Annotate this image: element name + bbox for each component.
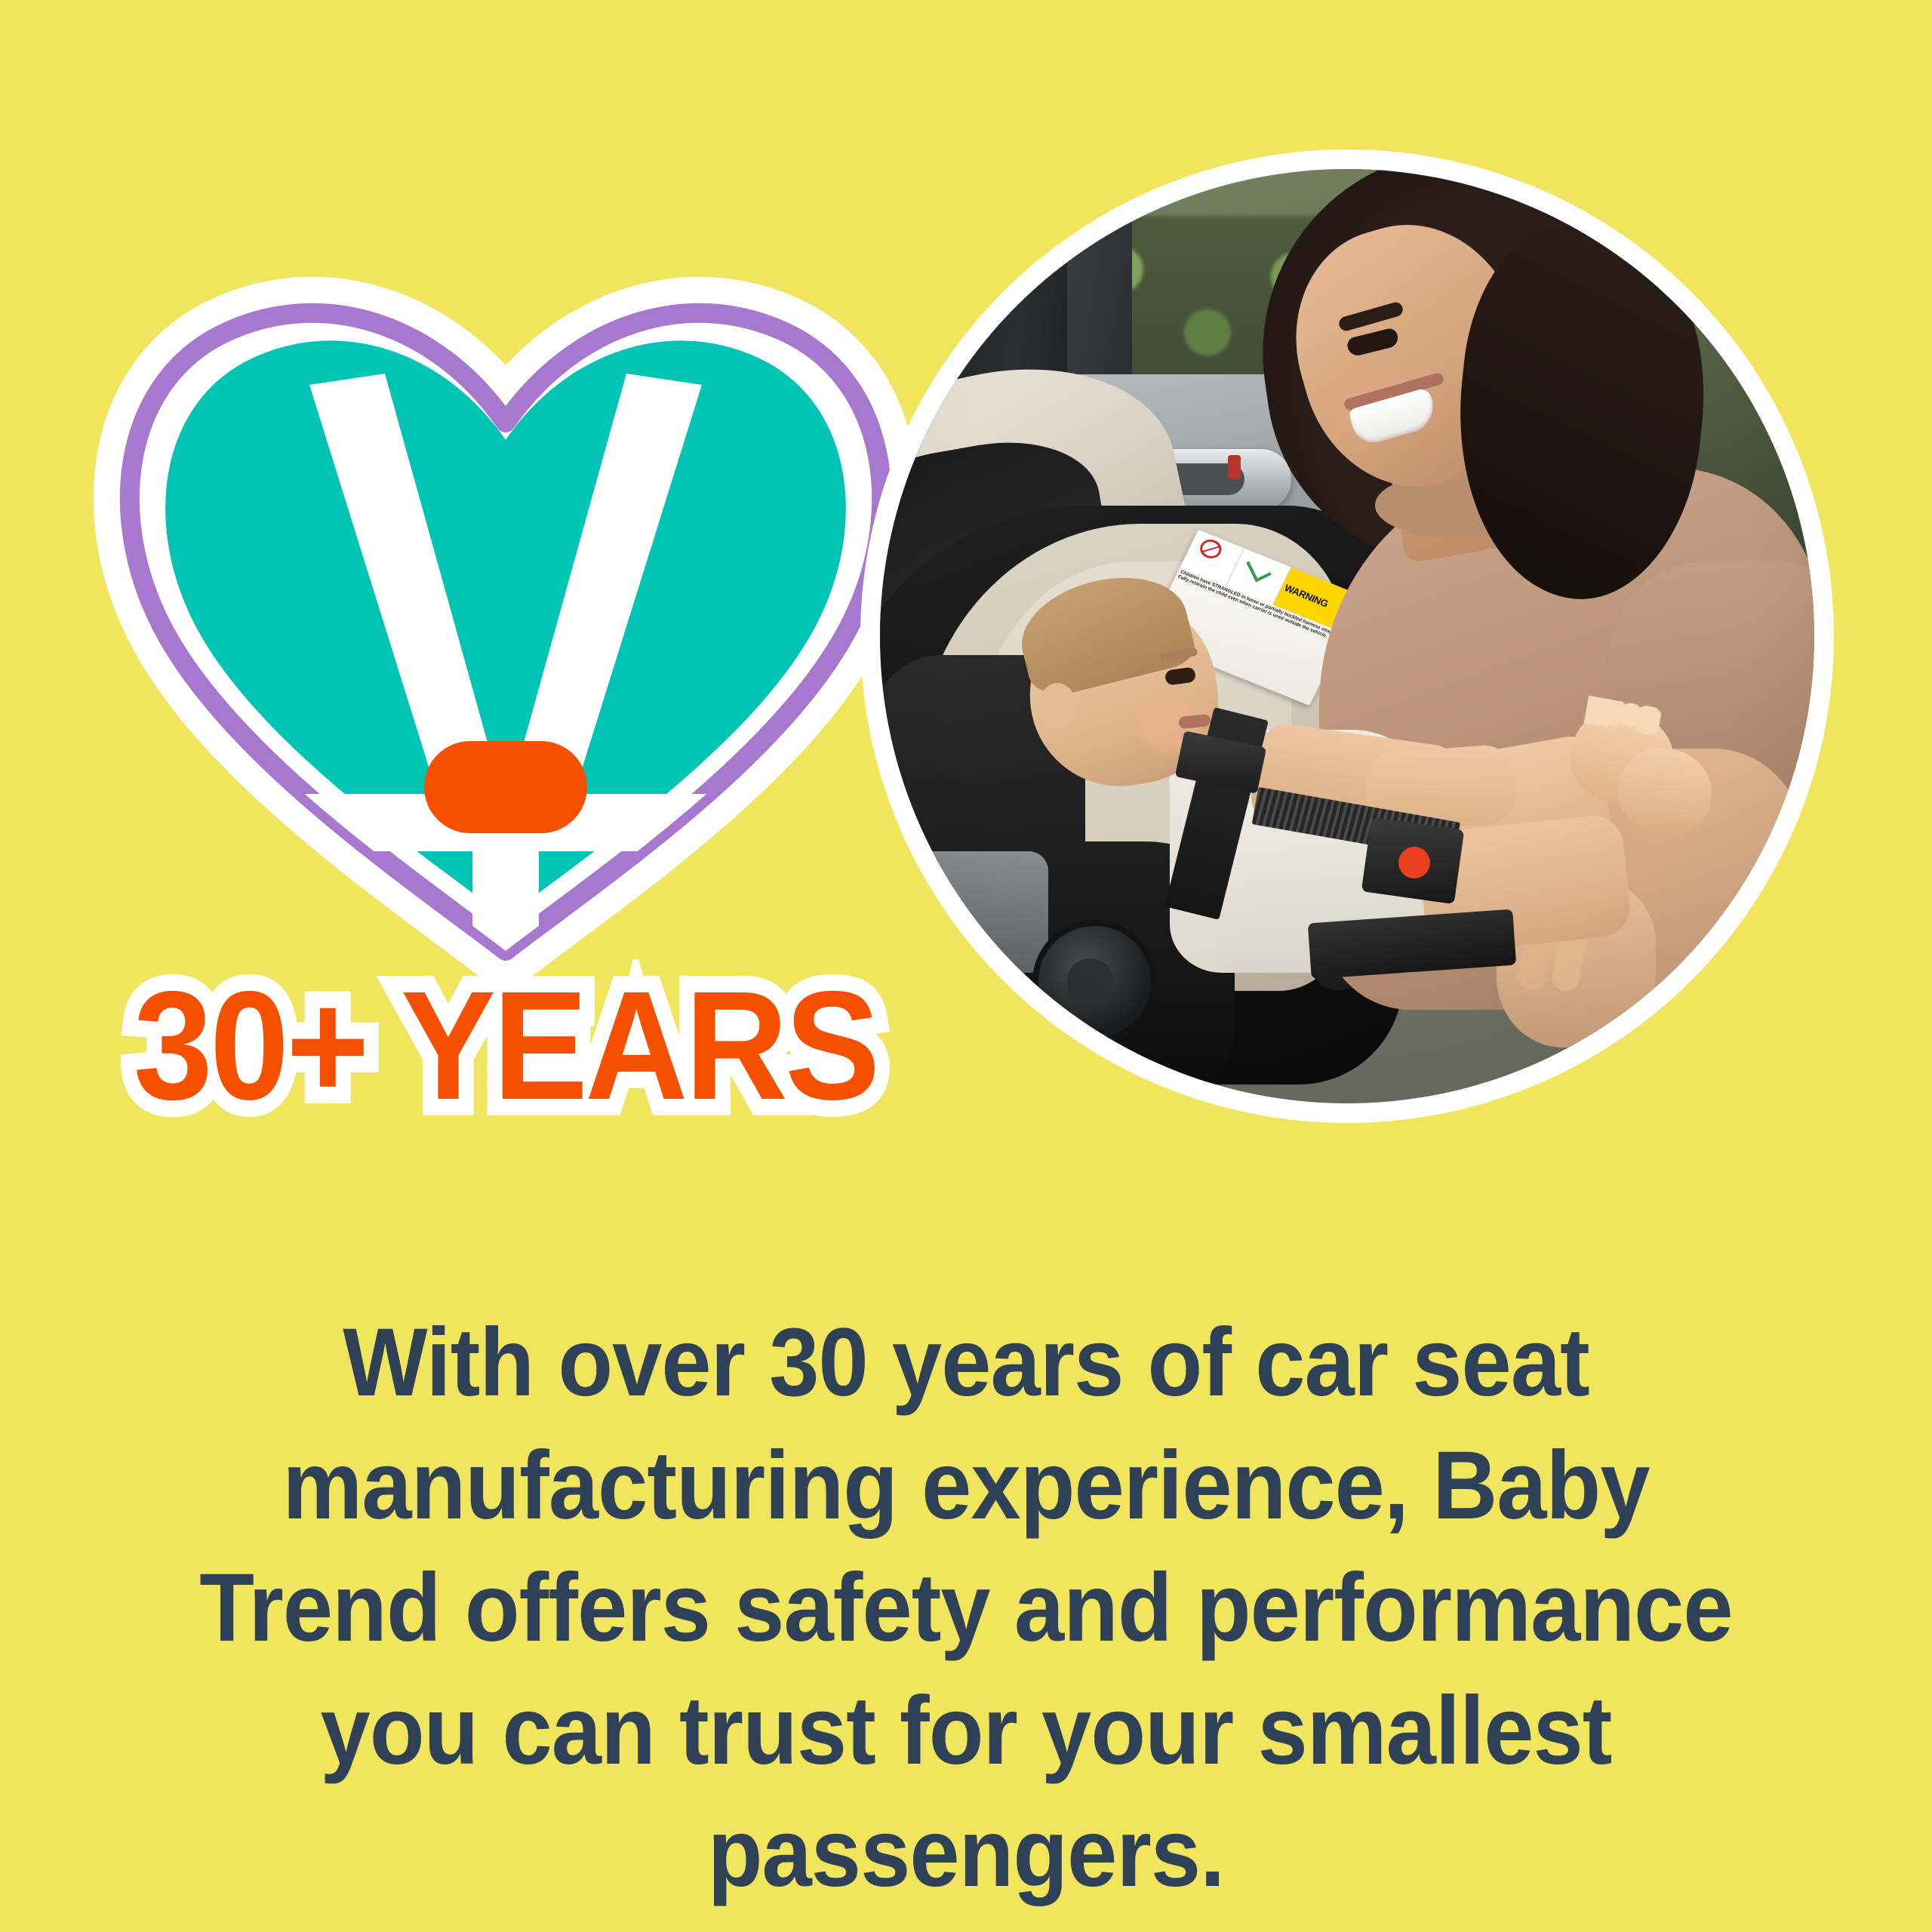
buckle-icon [424,741,587,833]
photo-circle-ring: WARNING Children have STRANGLED in loose… [860,149,1834,1123]
years-label: 30+ YEARS [134,968,878,1123]
photo-vignette [880,169,1814,1103]
hero-section: 30+ YEARS [0,0,1932,1253]
promo-graphic: 30+ YEARS [0,0,1932,1932]
body-copy: With over 30 years of car seat manufactu… [187,1302,1746,1915]
years-badge-caption: 30+ YEARS [91,958,921,1132]
mother-and-baby-photo: WARNING Children have STRANGLED in loose… [880,169,1814,1103]
safety-heart-badge [83,226,928,981]
